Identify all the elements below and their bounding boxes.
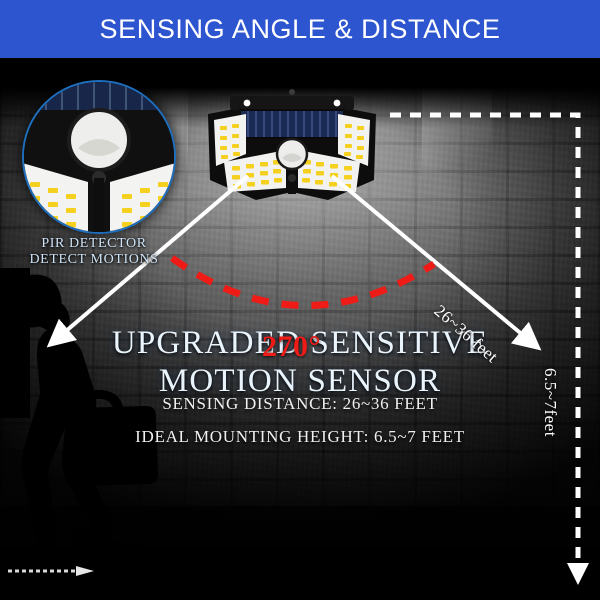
callout-label-line1: PIR DETECTOR: [14, 236, 174, 252]
bracket-top-knob: [289, 89, 295, 95]
mounting-height-label: 6.5~7feet: [540, 368, 560, 437]
sensing-angle-value: 270°: [262, 330, 321, 364]
solar-motion-sensor-wall-light[interactable]: [202, 88, 382, 208]
callout-label-line2: DETECT MOTIONS: [14, 252, 174, 268]
light-sensor: [288, 174, 296, 182]
solar-panel: [240, 110, 344, 138]
wall-scene: PIR DETECTOR DETECT MOTIONS 270° 26~36 f…: [0, 58, 600, 600]
pir-detector-caption: PIR DETECTOR DETECT MOTIONS: [14, 236, 174, 267]
bracket-screw-left: [244, 100, 251, 107]
pir-detector-callout[interactable]: [22, 80, 176, 234]
ground-floor: [0, 506, 600, 600]
spec-mounting-height: IDEAL MOUNTING HEIGHT: 6.5~7 FEET: [0, 427, 600, 447]
page-title: SENSING ANGLE & DISTANCE: [100, 14, 501, 45]
bracket-screw-right: [334, 100, 341, 107]
spec-sensing-distance: SENSING DISTANCE: 26~36 FEET: [0, 394, 600, 414]
infographic-canvas: SENSING ANGLE & DISTANCE: [0, 0, 600, 600]
header-banner: SENSING ANGLE & DISTANCE: [0, 0, 600, 58]
